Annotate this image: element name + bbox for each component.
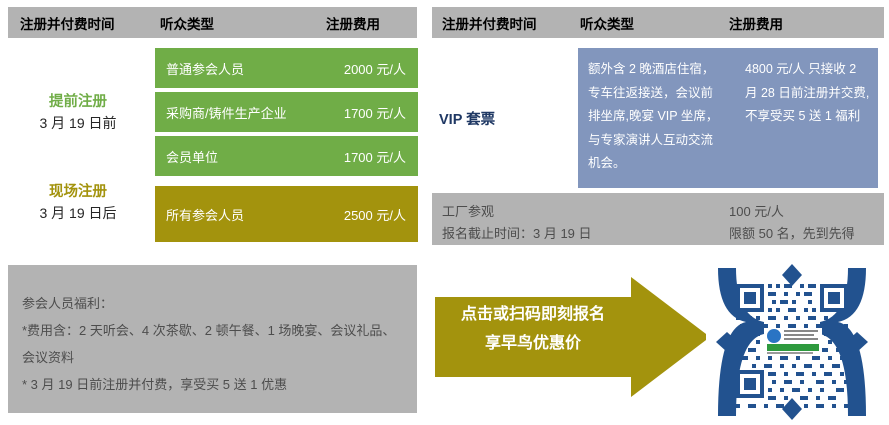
table-row: 所有参会人员 2500 元/人 bbox=[155, 186, 418, 242]
note-line-1: 参会人员福利： bbox=[22, 290, 405, 317]
row-attendee-type: 普通参会人员 bbox=[166, 59, 244, 78]
stage-title: 提前注册 bbox=[8, 92, 148, 112]
register-cta-arrow-button[interactable] bbox=[435, 277, 710, 397]
stage-onsite-registration: 现场注册 3 月 19 日后 bbox=[8, 182, 148, 224]
qr-code-icon bbox=[706, 258, 878, 425]
factory-tour-name: 工厂参观 bbox=[442, 201, 494, 220]
vip-package-label: VIP 套票 bbox=[439, 108, 495, 129]
attendee-benefits-note: 参会人员福利： *费用含：2 天听会、4 次茶歇、2 顿午餐、1 场晚宴、会议礼… bbox=[8, 265, 417, 413]
stage-date: 3 月 19 日后 bbox=[8, 202, 148, 224]
note-line-2: *费用含：2 天听会、4 次茶歇、2 顿午餐、1 场晚宴、会议礼品、会议资料 bbox=[22, 317, 405, 371]
stage-date: 3 月 19 日前 bbox=[8, 112, 148, 134]
row-fee: 2500 元/人 bbox=[344, 205, 406, 224]
vip-description-text: 额外含 2 晚酒店住宿，专车往返接送，会议前排坐席,晚宴 VIP 坐席，与专家演… bbox=[588, 58, 725, 176]
table-row: 普通参会人员 2000 元/人 bbox=[155, 48, 418, 88]
header-registration-time: 注册并付费时间 bbox=[442, 13, 537, 33]
vip-pricing-right-table: 注册并付费时间 听众类型 注册费用 VIP 套票 额外含 2 晚酒店住宿，专车往… bbox=[425, 0, 889, 425]
vip-description-box: 额外含 2 晚酒店住宿，专车往返接送，会议前排坐席,晚宴 VIP 坐席，与专家演… bbox=[578, 48, 733, 188]
row-fee: 1700 元/人 bbox=[344, 103, 406, 122]
table-row: 采购商/铸件生产企业 1700 元/人 bbox=[155, 92, 418, 132]
registration-pricing-left-table: 注册并付费时间 听众类型 注册费用 提前注册 3 月 19 日前 现场注册 3 … bbox=[0, 0, 425, 425]
left-table-header-row: 注册并付费时间 听众类型 注册费用 bbox=[8, 7, 417, 38]
header-attendee-type: 听众类型 bbox=[160, 13, 214, 33]
factory-tour-row: 工厂参观 报名截止时间：3 月 19 日 100 元/人 限额 50 名，先到先… bbox=[432, 193, 884, 245]
header-attendee-type: 听众类型 bbox=[580, 13, 634, 33]
factory-tour-quota: 限额 50 名，先到先得 bbox=[729, 223, 855, 242]
row-attendee-type: 会员单位 bbox=[166, 147, 218, 166]
row-attendee-type: 采购商/铸件生产企业 bbox=[166, 103, 287, 122]
right-table-header-row: 注册并付费时间 听众类型 注册费用 bbox=[432, 7, 884, 38]
vip-fee-text: 4800 元/人 只接收 2 月 28 日前注册并交费, 不享受买 5 送 1 … bbox=[745, 58, 870, 129]
vip-fee-box: 4800 元/人 只接收 2 月 28 日前注册并交费, 不享受买 5 送 1 … bbox=[733, 48, 878, 188]
table-row: 会员单位 1700 元/人 bbox=[155, 136, 418, 176]
stage-early-registration: 提前注册 3 月 19 日前 bbox=[8, 92, 148, 134]
row-fee: 2000 元/人 bbox=[344, 59, 406, 78]
note-line-3: * 3 月 19 日前注册并付费，享受买 5 送 1 优惠 bbox=[22, 371, 405, 398]
row-fee: 1700 元/人 bbox=[344, 147, 406, 166]
header-registration-time: 注册并付费时间 bbox=[20, 13, 115, 33]
factory-tour-deadline: 报名截止时间：3 月 19 日 bbox=[442, 223, 592, 242]
row-attendee-type: 所有参会人员 bbox=[166, 205, 244, 224]
stage-title: 现场注册 bbox=[8, 182, 148, 202]
factory-tour-price: 100 元/人 bbox=[729, 201, 784, 220]
qr-code[interactable] bbox=[706, 258, 878, 425]
header-registration-fee: 注册费用 bbox=[729, 13, 783, 33]
header-registration-fee: 注册费用 bbox=[326, 13, 380, 33]
